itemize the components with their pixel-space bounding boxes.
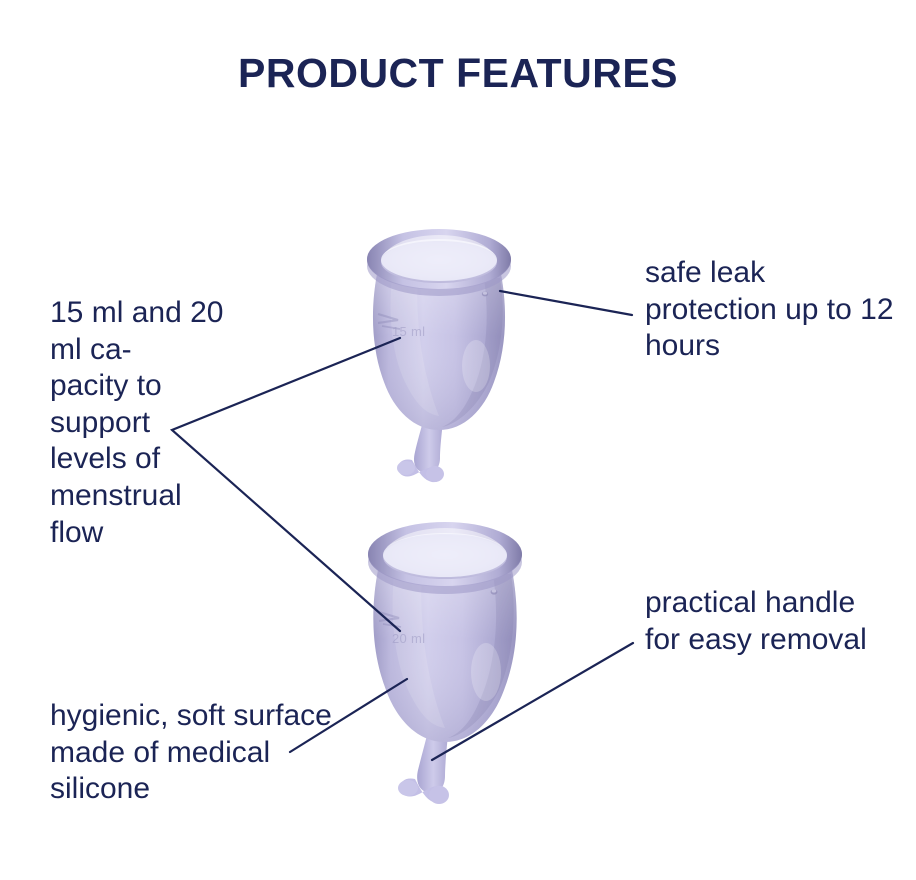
cup-rim-20ml xyxy=(368,522,522,594)
product-image-cup-15ml xyxy=(336,216,546,486)
product-image-cup-20ml xyxy=(336,508,556,808)
page-title: PRODUCT FEATURES xyxy=(0,50,916,97)
cup-rim-15ml xyxy=(367,229,511,296)
cup-body-15ml xyxy=(373,274,505,430)
callout-silicone: hygienic, soft surface made of medical s… xyxy=(50,698,350,808)
callout-leak-protection: safe leak protection up to 12 hours xyxy=(645,255,895,365)
cup-body-20ml xyxy=(373,570,516,742)
callout-handle: practical handle for easy removal xyxy=(645,585,895,658)
infographic-canvas: PRODUCT FEATURES xyxy=(0,0,916,880)
callout-capacity: 15 ml and 20 ml ca- pacity to support le… xyxy=(50,295,235,551)
